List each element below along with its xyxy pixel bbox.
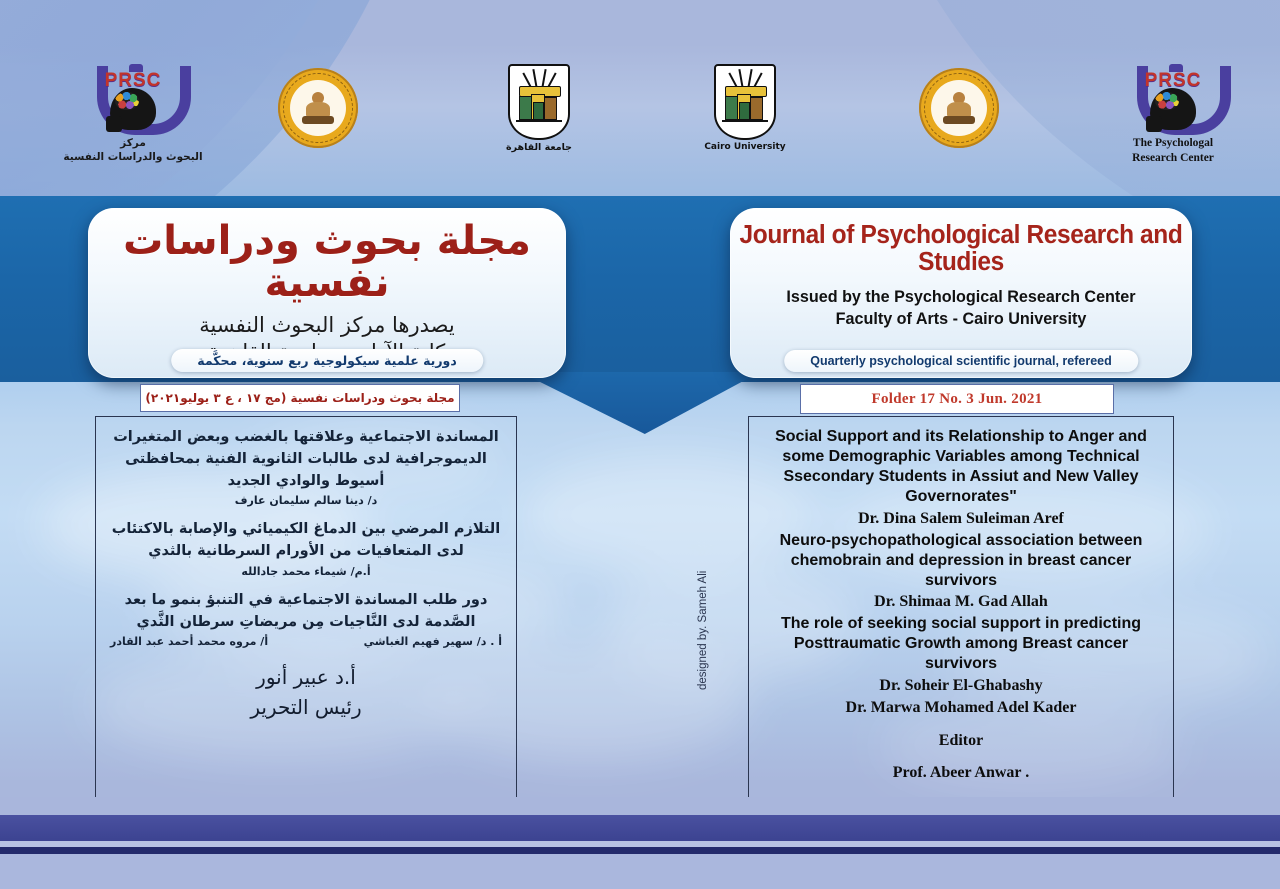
- article-author-ar-1: د/ دينا سالم سليمان عارف: [108, 494, 504, 507]
- article-author-ar-3-right: أ . د/ سهير فهيم الغباشي: [364, 635, 502, 648]
- logo-strip: PRSC مركز البحوث والدراسات النفسية: [0, 52, 1280, 177]
- prsc-label-line2: البحوث والدراسات النفسية: [58, 150, 208, 164]
- article-author-ar-3-left: أ/ مروه محمد أحمد عبد القادر: [110, 635, 268, 648]
- gold-scribe-seal-left: [272, 68, 364, 148]
- cairo-university-shield-english: Cairo University: [702, 64, 788, 152]
- cairo-university-shield-arabic: جامعة القاهرة: [496, 64, 582, 153]
- faculty-line-english: Faculty of Arts - Cairo University: [742, 308, 1181, 330]
- journal-title-arabic: مجلة بحوث ودراسات نفسية: [88, 220, 566, 304]
- issue-text-english: Folder 17 No. 3 Jun. 2021: [872, 391, 1043, 408]
- editor-name-arabic: أ.د عبير أنور: [108, 662, 504, 692]
- article-author-ar-2: أ.م/ شيماء محمد جادالله: [108, 565, 504, 578]
- journal-type-badge-arabic: دورية علمية سيكولوجية ربع سنوية، محكَّمة: [171, 349, 483, 372]
- article-authors-ar-3: أ . د/ سهير فهيم الغباشي أ/ مروه محمد أح…: [110, 635, 502, 648]
- arabic-title-box: مجلة بحوث ودراسات نفسية يصدرها مركز البح…: [88, 208, 566, 378]
- journal-cover: PRSC مركز البحوث والدراسات النفسية: [0, 0, 1280, 889]
- issue-bar-arabic: مجلة بحوث ودراسات نفسية (مج ١٧ ، ع ٣ يول…: [140, 384, 460, 412]
- brain-head-u-icon: PRSC: [1123, 64, 1223, 132]
- article-title-ar-3: دور طلب المساندة الاجتماعية في التنبؤ بن…: [108, 590, 504, 634]
- scribe-seal-icon: [278, 68, 358, 148]
- prsc-english-line2: Research Center: [1098, 151, 1248, 166]
- stripe-light-bottom: [0, 854, 1280, 889]
- editor-name-english: Prof. Abeer Anwar .: [761, 764, 1161, 782]
- article-title-en-3: The role of seeking social support in pr…: [761, 614, 1161, 674]
- brain-head-u-icon: PRSC: [83, 64, 183, 132]
- english-title-box: Journal of Psychological Research and St…: [730, 208, 1192, 378]
- article-title-en-2: Neuro-psychopathological association bet…: [761, 531, 1161, 591]
- gold-scribe-seal-right: [913, 68, 1005, 148]
- bottom-stripes: [0, 797, 1280, 889]
- stripe-navy: [0, 847, 1280, 854]
- shield-icon: [714, 64, 776, 140]
- stripe-indigo: [0, 815, 1280, 841]
- article-title-ar-2: التلازم المرضي بين الدماغ الكيميائي والإ…: [108, 519, 504, 563]
- issue-bar-english: Folder 17 No. 3 Jun. 2021: [800, 384, 1114, 414]
- shield-caption-english: Cairo University: [702, 142, 788, 152]
- arabic-contents-box: المساندة الاجتماعية وعلاقتها بالغضب وبعض…: [95, 416, 517, 808]
- editor-role-arabic: رئيس التحرير: [108, 692, 504, 722]
- prsc-logo-left: PRSC مركز البحوث والدراسات النفسية: [58, 64, 208, 164]
- editor-label-english: Editor: [761, 732, 1161, 750]
- english-contents-box: Social Support and its Relationship to A…: [748, 416, 1174, 808]
- issuer-line-arabic: يصدرها مركز البحوث النفسية: [88, 312, 566, 339]
- scribe-seal-icon: [919, 68, 999, 148]
- article-author-en-2: Dr. Shimaa M. Gad Allah: [761, 592, 1161, 612]
- article-title-ar-1: المساندة الاجتماعية وعلاقتها بالغضب وبعض…: [108, 427, 504, 492]
- article-author-en-1: Dr. Dina Salem Suleiman Aref: [761, 509, 1161, 529]
- shield-caption-arabic: جامعة القاهرة: [496, 142, 582, 153]
- journal-title-english: Journal of Psychological Research and St…: [739, 222, 1183, 276]
- stripe-light-top: [0, 797, 1280, 815]
- prsc-logo-right: PRSC The Psychologal Research Center: [1098, 64, 1248, 166]
- issuer-line-english: Issued by the Psychological Research Cen…: [742, 286, 1181, 308]
- designer-credit: designed by. Sameh Ali: [697, 571, 709, 690]
- journal-type-badge-english: Quarterly psychological scientific journ…: [784, 350, 1138, 372]
- shield-icon: [508, 64, 570, 140]
- prsc-label-line1: مركز: [58, 136, 208, 150]
- prsc-english-line1: The Psychologal: [1098, 136, 1248, 151]
- article-author-en-3b: Dr. Marwa Mohamed Adel Kader: [761, 698, 1161, 718]
- issue-text-arabic: مجلة بحوث ودراسات نفسية (مج ١٧ ، ع ٣ يول…: [145, 391, 454, 405]
- article-author-en-3a: Dr. Soheir El-Ghabashy: [761, 676, 1161, 696]
- article-title-en-1: Social Support and its Relationship to A…: [761, 427, 1161, 508]
